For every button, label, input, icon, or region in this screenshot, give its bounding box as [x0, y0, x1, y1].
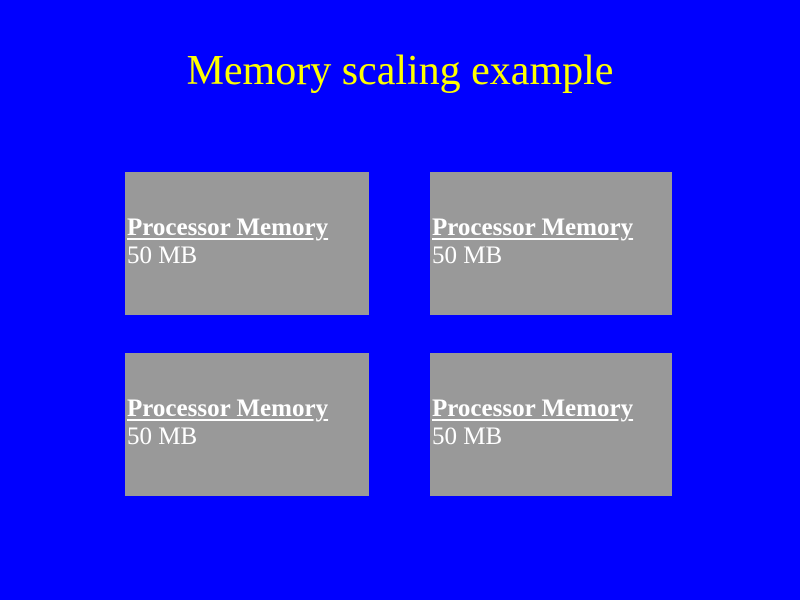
node-heading: Processor Memory — [432, 395, 633, 422]
presentation-slide: Memory scaling example Processor Memory … — [0, 0, 800, 600]
node-text-block: Processor Memory 50 MB — [127, 395, 369, 452]
node-heading: Processor Memory — [127, 395, 328, 422]
node-memory-value: 50 MB — [127, 241, 369, 271]
processor-memory-node[interactable]: Processor Memory 50 MB — [125, 353, 369, 496]
page-title: Memory scaling example — [0, 47, 800, 95]
node-heading: Processor Memory — [432, 214, 633, 241]
processor-memory-node[interactable]: Processor Memory 50 MB — [430, 353, 672, 496]
processor-memory-node[interactable]: Processor Memory 50 MB — [430, 172, 672, 315]
node-memory-value: 50 MB — [127, 422, 369, 452]
processor-memory-node[interactable]: Processor Memory 50 MB — [125, 172, 369, 315]
node-text-block: Processor Memory 50 MB — [432, 214, 672, 271]
node-memory-value: 50 MB — [432, 422, 672, 452]
node-text-block: Processor Memory 50 MB — [432, 395, 672, 452]
node-heading: Processor Memory — [127, 214, 328, 241]
node-memory-value: 50 MB — [432, 241, 672, 271]
node-text-block: Processor Memory 50 MB — [127, 214, 369, 271]
